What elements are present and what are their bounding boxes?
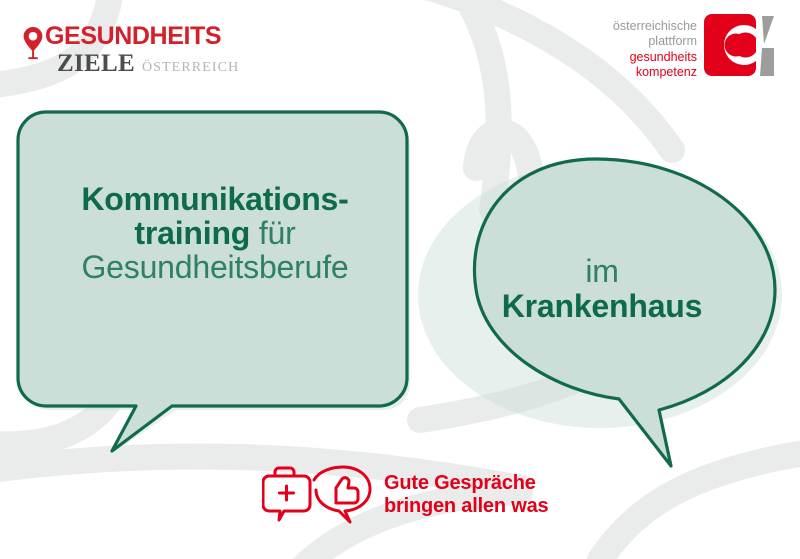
bubble-left-line-2: training für <box>40 216 390 250</box>
bubble-left-line-1-bold: Kommunikations- <box>81 181 348 217</box>
logo-oepgk-line-1: österreichische <box>613 19 697 34</box>
bubble-left-line-2-bold: training <box>134 215 250 251</box>
logo-gz-wordmark: GESUNDHEITS ZIELE ÖSTERREICH <box>45 24 239 76</box>
logo-gz-line-1: GESUNDHEITS <box>45 24 239 49</box>
bubble-left-line-3-regular: Gesundheitsberufe <box>81 249 348 285</box>
logo-oepgk-line-4: kompetenz <box>613 65 697 80</box>
logo-gz-oesterreich: ÖSTERREICH <box>142 61 239 75</box>
bubble-left-line-3: Gesundheitsberufe <box>40 250 390 284</box>
bubble-left-text: Kommunikations- training für Gesundheits… <box>40 182 390 285</box>
logo-gesundheitsziele-oesterreich[interactable]: GESUNDHEITS ZIELE ÖSTERREICH <box>22 24 239 76</box>
logo-oepgk[interactable]: österreichische plattform gesundheits ko… <box>613 14 782 80</box>
medical-bag-speech-bubble-plus-icon <box>263 468 310 520</box>
bubble-right-line-2-bold: Krankenhaus <box>502 288 703 324</box>
logo-gz-line-2: ZIELE ÖSTERREICH <box>57 51 239 76</box>
map-pin-icon <box>22 26 44 60</box>
bubble-left-line-2-regular: für <box>250 215 295 251</box>
bubble-right-line-1-regular: im <box>585 253 618 289</box>
claim-text: Gute Gespräche bringen allen was <box>384 472 548 518</box>
logo-oepgk-line-2: plattform <box>613 34 697 49</box>
bubble-left-line-1: Kommunikations- <box>40 182 390 216</box>
oepgk-c-k-mark-icon <box>704 14 782 76</box>
poster-canvas: Kommunikations- training für Gesundheits… <box>0 0 800 559</box>
logo-gz-ziele: ZIELE <box>57 51 135 76</box>
bubble-right-line-2: Krankenhaus <box>432 289 772 324</box>
bubble-right-line-1: im <box>432 254 772 289</box>
thumbs-up-speech-bubble-icon <box>314 467 370 522</box>
claim-block: Gute Gespräche bringen allen was <box>262 463 548 527</box>
claim-icons <box>262 463 374 527</box>
claim-line-1: Gute Gespräche <box>384 472 548 495</box>
logo-oepgk-line-3: gesundheits <box>613 50 697 65</box>
claim-line-2: bringen allen was <box>384 495 548 518</box>
logo-oepgk-wordmark: österreichische plattform gesundheits ko… <box>613 19 697 80</box>
bubble-right-text: im Krankenhaus <box>432 254 772 324</box>
